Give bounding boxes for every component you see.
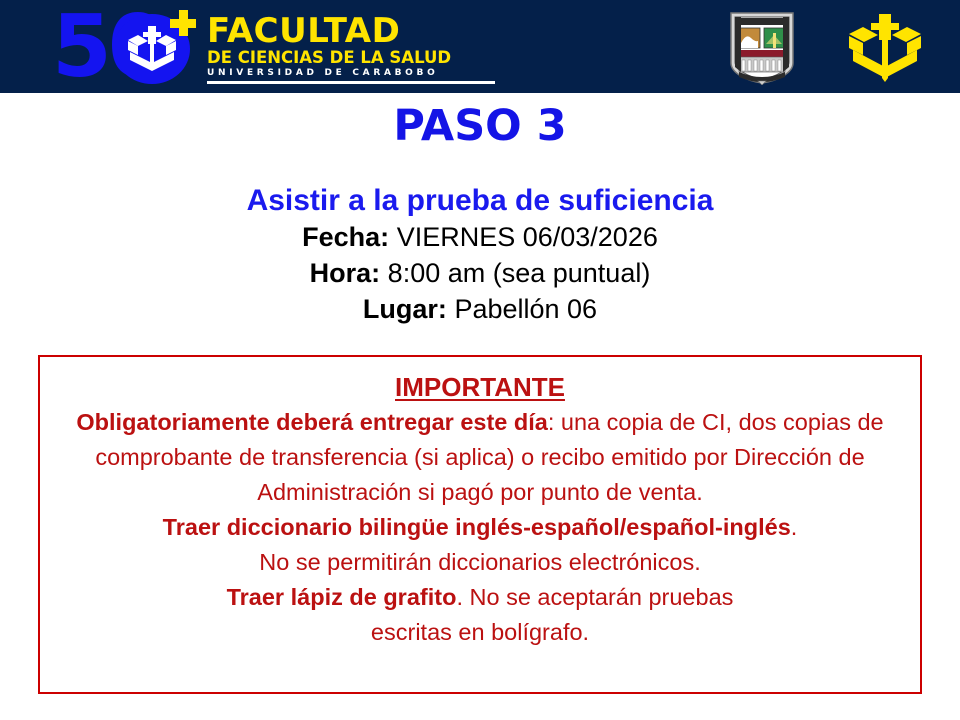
important-line-dictionary-rest: . [791, 514, 798, 540]
important-line-pencil: Traer lápiz de grafito. No se aceptarán … [40, 580, 920, 615]
detail-label-hora: Hora: [310, 258, 381, 288]
detail-label-fecha: Fecha: [302, 222, 389, 252]
detail-label-lugar: Lugar: [363, 294, 447, 324]
slide-root: 50 FACULTAD DE CIE [0, 0, 960, 720]
detail-value-fecha: VIERNES 06/03/2026 [397, 222, 658, 252]
faculty-rule [207, 81, 495, 84]
important-line-dictionary-bold: Traer diccionario bilingüe inglés-españo… [163, 514, 791, 540]
page-title: PASO 3 [0, 102, 960, 150]
important-title: IMPORTANTE [40, 371, 920, 403]
details-headline: Asistir a la prueba de suficiencia [0, 182, 960, 219]
important-line-pencil-rest: . No se aceptarán pruebas [456, 584, 733, 610]
faculty-wordmark: FACULTAD DE CIENCIAS DE LA SALUD UNIVERS… [207, 16, 497, 84]
faculty-line-2: DE CIENCIAS DE LA SALUD [207, 48, 497, 67]
exam-details: Asistir a la prueba de suficiencia Fecha… [0, 182, 960, 327]
important-line-pencil-bold: Traer lápiz de grafito [227, 584, 457, 610]
detail-value-hora: 8:00 am (sea puntual) [388, 258, 651, 288]
uc-yellow-mark-icon [845, 12, 925, 84]
important-notice-box: IMPORTANTE Obligatoriamente deberá entre… [38, 355, 922, 694]
detail-row: Hora: 8:00 am (sea puntual) [0, 255, 960, 291]
important-line-pen: escritas en bolígrafo. [40, 615, 920, 650]
faculty-line-1: FACULTAD [207, 16, 497, 46]
anniversary-logo: 50 [52, 6, 210, 88]
important-paragraph: Obligatoriamente deberá entregar este dí… [40, 405, 920, 510]
important-paragraph-lead: Obligatoriamente deberá entregar este dí… [76, 409, 547, 435]
detail-value-lugar: Pabellón 06 [454, 294, 597, 324]
detail-row: Lugar: Pabellón 06 [0, 291, 960, 327]
important-line-no-electronic: No se permitirán diccionarios electrónic… [40, 545, 920, 580]
uc-coat-of-arms-icon [727, 11, 797, 85]
header-band: 50 FACULTAD DE CIE [0, 0, 960, 93]
detail-row: Fecha: VIERNES 06/03/2026 [0, 219, 960, 255]
faculty-line-3: UNIVERSIDAD DE CARABOBO [207, 68, 497, 79]
important-line-dictionary: Traer diccionario bilingüe inglés-españo… [40, 510, 920, 545]
medical-cross-icon [170, 10, 196, 36]
